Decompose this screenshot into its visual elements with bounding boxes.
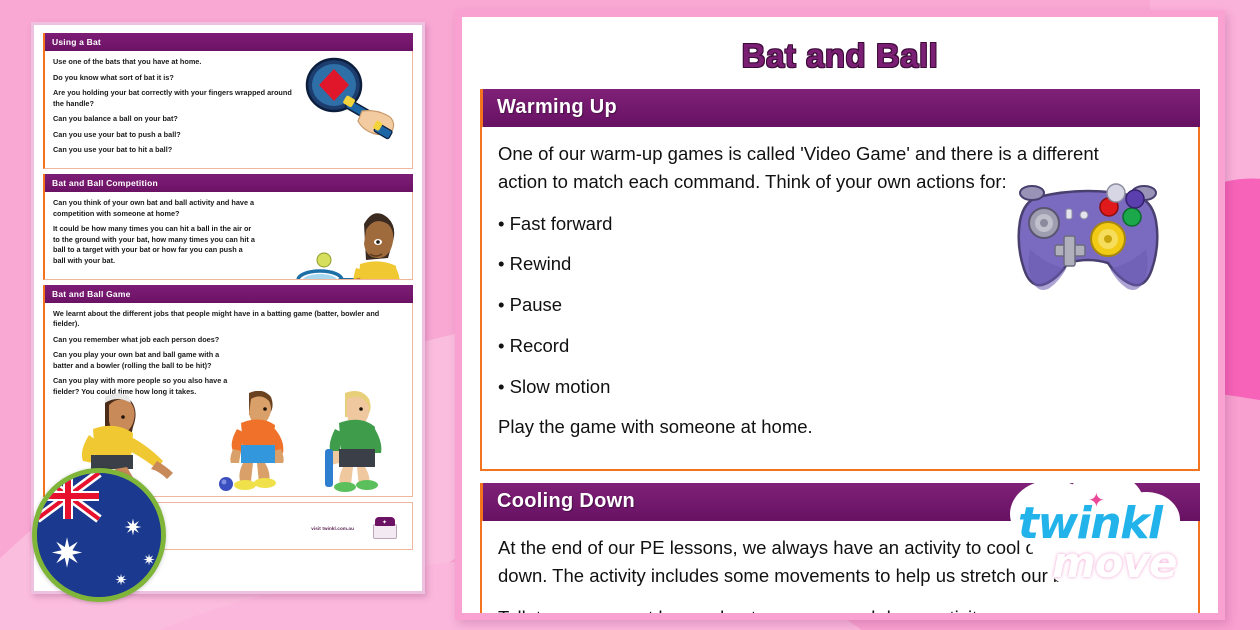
- section-spacer: [480, 471, 1200, 483]
- thumbnail-footer-text: visit twinkl.com.au: [311, 526, 354, 531]
- section-closing-text: Talk to someone at home about your own c…: [498, 604, 1138, 621]
- page-title: Bat and Ball: [480, 37, 1200, 75]
- thumbnail-section-using-a-bat: Using a Bat Use one of the bats that you…: [43, 33, 413, 169]
- document-page: Bat and Ball Warming Up One of our warm-…: [462, 17, 1218, 613]
- thumbnail-paragraph: We learnt about the different jobs that …: [53, 309, 386, 330]
- thumbnail-paragraph: It could be how many times you can hit a…: [53, 224, 257, 266]
- twinkl-cup-logo-icon: ✦: [372, 516, 398, 540]
- bullet-item: • Slow motion: [498, 373, 1138, 401]
- boy-with-racket-icon: [286, 194, 406, 279]
- section-closing-text: Play the game with someone at home.: [498, 413, 1138, 441]
- section-warming-up: Warming Up One of our warm-up games is c…: [480, 89, 1200, 471]
- thumbnail-paragraph: Can you remember what job each person do…: [53, 335, 386, 346]
- section-body-cooling-down: At the end of our PE lessons, we always …: [480, 521, 1200, 620]
- thumbnail-paragraph: Can you use your bat to hit a ball?: [53, 145, 295, 156]
- thumbnail-paragraph: Can you balance a ball on your bat?: [53, 114, 295, 125]
- thumbnail-paragraph: Use one of the bats that you have at hom…: [53, 57, 295, 68]
- tennis-racket-icon: [294, 55, 404, 145]
- main-document-preview[interactable]: Bat and Ball Warming Up One of our warm-…: [455, 10, 1225, 620]
- screenshot-stage: Using a Bat Use one of the bats that you…: [0, 0, 1260, 630]
- thumbnail-section-body: Use one of the bats that you have at hom…: [43, 51, 413, 169]
- thumbnail-section-heading: Bat and Ball Game: [43, 285, 413, 303]
- svg-text:✷: ✷: [124, 516, 142, 541]
- thumbnail-paragraph: Can you play your own bat and ball game …: [53, 350, 236, 371]
- bullet-item: • Record: [498, 332, 1138, 360]
- svg-text:✷: ✷: [115, 571, 128, 589]
- section-intro-text: At the end of our PE lessons, we always …: [498, 534, 1138, 590]
- australian-flag-badge: ✷ ✷ ✷ ✷: [32, 468, 166, 602]
- section-heading-warming-up: Warming Up: [480, 89, 1200, 127]
- thumbnail-paragraph: Do you know what sort of bat it is?: [53, 73, 295, 84]
- section-heading-cooling-down: Cooling Down: [480, 483, 1200, 521]
- thumbnail-section-heading: Using a Bat: [43, 33, 413, 51]
- svg-text:✷: ✷: [143, 551, 156, 569]
- thumbnail-paragraph: Can you think of your own bat and ball a…: [53, 198, 295, 219]
- thumbnail-section-body: Can you think of your own bat and ball a…: [43, 192, 413, 279]
- thumbnail-paragraph: Are you holding your bat correctly with …: [53, 88, 295, 109]
- thumbnail-section-bat-and-ball-game: Bat and Ball Game We learnt about the di…: [43, 285, 413, 497]
- thumbnail-section-bat-and-ball-competition: Bat and Ball Competition Can you think o…: [43, 174, 413, 279]
- svg-text:✷: ✷: [50, 531, 84, 577]
- thumbnail-paragraph: Can you use your bat to push a ball?: [53, 130, 295, 141]
- section-cooling-down: Cooling Down At the end of our PE lesson…: [480, 483, 1200, 620]
- thumbnail-section-heading: Bat and Ball Competition: [43, 174, 413, 192]
- section-body-warming-up: One of our warm-up games is called 'Vide…: [480, 127, 1200, 471]
- game-controller-icon: [1008, 179, 1168, 304]
